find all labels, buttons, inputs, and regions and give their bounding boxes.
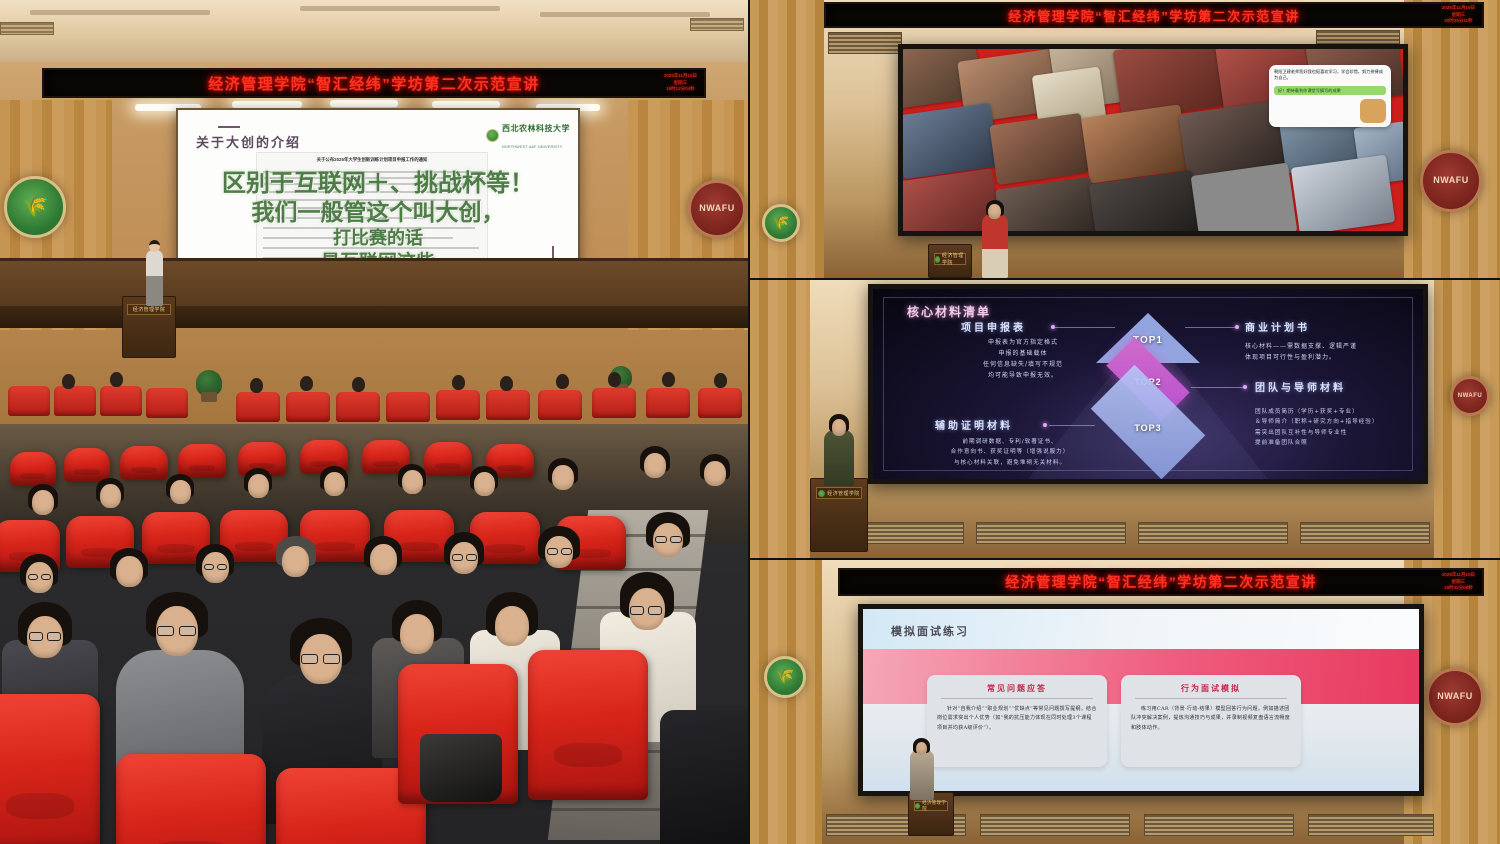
- block-heading-business-plan: 商业计划书: [1245, 319, 1310, 334]
- overlay-line-3: 打比赛的话: [178, 229, 578, 249]
- panel-core-materials-slide: NWAFU 核心材料清单 TOP1 TOP2 TOP3 项目申报表: [750, 280, 1500, 558]
- speaker-body: [146, 250, 163, 306]
- air-vent: [1144, 814, 1294, 836]
- overlay-line-1: 区别于互联网＋、挑战杯等！: [178, 170, 578, 197]
- air-vent: [976, 522, 1126, 544]
- wheat-icon: 🌾: [23, 196, 48, 218]
- led-banner-text: 经济管理学院“智汇经纬”学坊第二次示范宣讲: [1008, 6, 1300, 25]
- block-heading-supporting-docs: 辅助证明材料: [935, 417, 1013, 432]
- air-vent: [1300, 522, 1430, 544]
- card-behavioral-interview: 行为面试模拟 练习用CAR（背景-行动-结果）模型回答行为问题，例如描述团队冲突…: [1121, 675, 1301, 767]
- panel-photo-collage-slide: NWAFU 🌾 经济管理学院“智汇经纬”学坊第二次示范宣讲 2025年11月19…: [750, 0, 1500, 278]
- university-logo-en: NORTHWEST A&F UNIVERSITY: [502, 145, 563, 149]
- wheat-icon: 🌾: [776, 669, 795, 686]
- podium-nameplate: 经济管理学院: [934, 253, 966, 265]
- chat-bubble-reply: 好！期待看到你课堂写摘写的成果: [1274, 86, 1386, 96]
- projection-screen: 模拟面试练习 常见问题应答 针对“自我介绍”“职业规划”“优缺点”等常见问题撰写…: [858, 604, 1424, 796]
- collage-slide: 朝阳卫建老师您好我也挺喜欢学习，学会珍惜，努力拼搏成为自己。 好！期待看到你课堂…: [903, 49, 1403, 231]
- card-divider: [1135, 698, 1287, 699]
- slide-title: 关于大创的介绍: [196, 132, 301, 151]
- led-banner-date: 2025年11月19日 星期三 19时32分08秒: [1442, 572, 1475, 592]
- block-line: 与核心材料关联，避免堆砌无关材料。: [895, 458, 1125, 468]
- presenter-body: [824, 430, 854, 486]
- slide-title: 核心材料清单: [907, 303, 991, 320]
- slide-title: 模拟面试练习: [891, 623, 969, 639]
- college-emblem-abbr: NWAFU: [699, 204, 735, 214]
- university-logo-icon: [486, 129, 499, 142]
- presenter-head: [832, 419, 846, 436]
- wall-panel-right: [1404, 0, 1500, 278]
- college-emblem-abbr: NWAFU: [1458, 393, 1483, 400]
- wall-panel-left: [750, 280, 810, 558]
- plant-pot: [201, 392, 217, 402]
- led-banner: 经济管理学院“智汇经纬”学坊第二次示范宣讲 2025年11月19日 星期三 20…: [824, 2, 1484, 28]
- university-emblem: 🌾: [764, 656, 806, 698]
- block-line: ＆导师简介（职称+研究方向+指导经验）: [1255, 417, 1428, 427]
- card-common-questions: 常见问题应答 针对“自我介绍”“职业规划”“优缺点”等常见问题撰写提纲，结合岗位…: [927, 675, 1107, 767]
- wall-panel-left: [750, 560, 822, 844]
- card-body: 针对“自我介绍”“职业规划”“优缺点”等常见问题撰写提纲，结合岗位需求突出个人优…: [927, 705, 1107, 733]
- led-banner: 经济管理学院“智汇经纬”学坊第二次示范宣讲 2025年11月19日 星期三 19…: [42, 68, 706, 98]
- university-emblem: 🌾: [4, 176, 66, 238]
- card-body: 练习用CAR（背景-行动-结果）模型回答行为问题，例如描述团队冲突解决案例，提炼…: [1121, 705, 1301, 733]
- block-line: 团队成员简历（学历+获奖+专业）: [1255, 407, 1428, 417]
- block-line: 核心材料——需数据支撑、逻辑严谨: [1245, 341, 1425, 352]
- block-line: 申报表为官方指定格式: [923, 337, 1123, 348]
- card-heading: 常见问题应答: [927, 683, 1107, 694]
- wheat-icon: 🌾: [772, 215, 789, 230]
- presenter-body: [982, 214, 1008, 278]
- block-line: 前期调研数据、专利/软著证书、: [895, 437, 1125, 447]
- panel-mock-interview-slide: 🌾 NWAFU 经济管理学院“智汇经纬”学坊第二次示范宣讲 2025年11月19…: [750, 560, 1500, 844]
- block-line: 体现项目可行性与盈利潜力。: [1245, 352, 1425, 363]
- led-display-wall: 朝阳卫建老师您好我也挺喜欢学习，学会珍惜，努力拼搏成为自己。 好！期待看到你课堂…: [898, 44, 1408, 236]
- air-vent: [1138, 522, 1288, 544]
- college-emblem: NWAFU: [688, 180, 746, 238]
- university-emblem: 🌾: [762, 204, 800, 242]
- ceiling: [0, 0, 748, 62]
- college-emblem-abbr: NWAFU: [1437, 692, 1473, 702]
- overlay-line-2: 我们一般管这个叫大创，: [178, 200, 578, 226]
- mock-interview-slide: 模拟面试练习 常见问题应答 针对“自我介绍”“职业规划”“优缺点”等常见问题撰写…: [863, 609, 1419, 791]
- podium-nameplate: 经济管理学院: [816, 487, 862, 499]
- air-vent: [980, 814, 1130, 836]
- led-banner: 经济管理学院“智汇经纬”学坊第二次示范宣讲 2025年11月19日 星期三 19…: [838, 568, 1484, 596]
- notice-heading: 关于公布2025年大学生创新训练计划项目申报工作的通知: [257, 157, 487, 163]
- block-line: 均可能导致申报无效。: [923, 370, 1123, 381]
- presenter-body: [910, 750, 934, 800]
- block-line: 需突出团队互补性与导师专业性: [1255, 428, 1428, 438]
- block-line: 申报的基础载体: [923, 348, 1123, 359]
- led-banner-date: 2025年11月19日 星期三 20时25分11秒: [1442, 5, 1475, 25]
- block-line: 合作意向书、获奖证明等（增强说服力）: [895, 447, 1125, 457]
- led-banner-text: 经济管理学院“智汇经纬”学坊第二次示范宣讲: [208, 73, 540, 94]
- college-emblem-abbr: NWAFU: [1433, 176, 1469, 186]
- college-logo-icon: [935, 256, 940, 263]
- card-divider: [941, 698, 1093, 699]
- college-logo-icon: [915, 803, 920, 809]
- chat-bubble: 朝阳卫建老师您好我也挺喜欢学习，学会珍惜，努力拼搏成为自己。 好！期待看到你课堂…: [1269, 65, 1391, 127]
- presenter-head: [916, 742, 927, 755]
- led-banner-text: 经济管理学院“智汇经纬”学坊第二次示范宣讲: [1005, 572, 1317, 592]
- panel-auditorium: 经济管理学院“智汇经纬”学坊第二次示范宣讲 2025年11月19日 星期三 19…: [0, 0, 748, 844]
- led-banner-date: 2025年11月19日 星期三 19时12分04秒: [664, 73, 697, 93]
- block-heading-team-mentor: 团队与导师材料: [1255, 379, 1346, 394]
- auditorium-wide-shot: 经济管理学院“智汇经纬”学坊第二次示范宣讲 2025年11月19日 星期三 19…: [0, 0, 748, 424]
- block-line: 提前准备团队合照: [1255, 438, 1428, 448]
- stage-front-edge: [0, 306, 748, 328]
- air-vent: [828, 32, 902, 54]
- block-line: 任何信息缺失/填写不规范: [923, 359, 1123, 370]
- air-vent: [1308, 814, 1434, 836]
- presenter-head: [988, 204, 1001, 219]
- college-logo-icon: [818, 490, 825, 497]
- sticker-icon: [1360, 99, 1386, 123]
- podium-nameplate: 经济管理学院: [914, 801, 948, 811]
- podium: 经济管理学院: [810, 478, 868, 552]
- wall-panel-right: [1434, 280, 1500, 558]
- block-heading-project-form: 项目申报表: [961, 319, 1026, 334]
- college-emblem: NWAFU: [1426, 668, 1484, 726]
- pyramid-label-top3: TOP3: [1134, 423, 1161, 433]
- college-emblem: NWAFU: [1450, 376, 1490, 416]
- audience-close-up: [0, 424, 748, 844]
- university-logo-cn: 西北农林科技大学: [502, 124, 570, 133]
- university-logo: 西北农林科技大学 NORTHWEST A&F UNIVERSITY: [486, 119, 570, 153]
- college-emblem: NWAFU: [1420, 150, 1482, 212]
- projection-screen: 核心材料清单 TOP1 TOP2 TOP3 项目申报表 申报表为官方指定格式 申…: [868, 284, 1428, 484]
- card-heading: 行为面试模拟: [1121, 683, 1301, 694]
- core-materials-slide: 核心材料清单 TOP1 TOP2 TOP3 项目申报表 申报表为官方指定格式 申…: [873, 289, 1423, 479]
- photo-collage: 经济管理学院“智汇经纬”学坊第二次示范宣讲 2025年11月19日 星期三 19…: [0, 0, 1500, 844]
- speaker-head: [149, 240, 160, 252]
- podium: 经济管理学院: [928, 244, 972, 278]
- chat-bubble-text: 朝阳卫建老师您好我也挺喜欢学习，学会珍惜，努力拼搏成为自己。: [1274, 69, 1386, 82]
